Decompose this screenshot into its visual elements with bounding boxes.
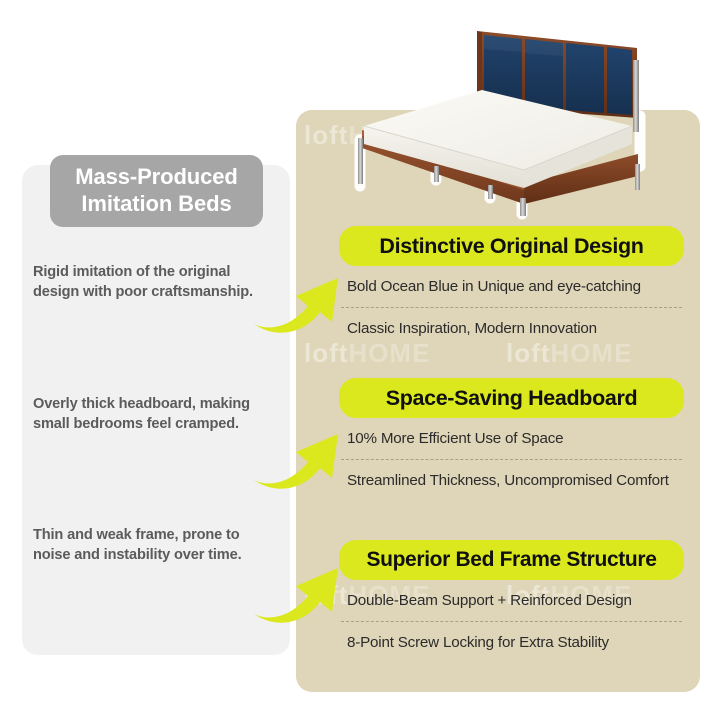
feature-block-2: Space-Saving Headboard 10% More Efficien… bbox=[339, 378, 684, 501]
feature-point: 10% More Efficient Use of Space bbox=[339, 418, 684, 459]
bed-product-image bbox=[332, 18, 714, 223]
imitation-badge-line1: Mass-Produced bbox=[75, 164, 238, 191]
feature-point: Bold Ocean Blue in Unique and eye-catchi… bbox=[339, 266, 684, 307]
caption-line: noise and instability over time. bbox=[33, 547, 241, 563]
feature-point: Classic Inspiration, Modern Innovation bbox=[339, 308, 684, 349]
feature-block-1: Distinctive Original Design Bold Ocean B… bbox=[339, 226, 684, 349]
headboard-panel bbox=[607, 47, 632, 115]
feature-point: Double-Beam Support + Reinforced Design bbox=[339, 580, 684, 621]
bed-leg bbox=[520, 198, 526, 216]
bed-leg bbox=[434, 166, 439, 182]
bed-leg bbox=[488, 185, 493, 199]
imitation-caption-1: Rigid imitation of the original design w… bbox=[33, 262, 278, 302]
caption-line: Rigid imitation of the original bbox=[33, 264, 230, 280]
imitation-badge: Mass-Produced Imitation Beds bbox=[50, 155, 263, 227]
feature-title-badge: Distinctive Original Design bbox=[339, 226, 684, 266]
headboard-panel bbox=[566, 43, 604, 113]
imitation-caption-3: Thin and weak frame, prone to noise and … bbox=[33, 525, 278, 565]
feature-title-badge: Superior Bed Frame Structure bbox=[339, 540, 684, 580]
feature-point: 8-Point Screw Locking for Extra Stabilit… bbox=[339, 622, 684, 663]
caption-line: small bedrooms feel cramped. bbox=[33, 416, 239, 432]
bed-leg bbox=[358, 138, 363, 184]
feature-point: Streamlined Thickness, Uncompromised Com… bbox=[339, 460, 684, 501]
bed-leg bbox=[635, 164, 640, 190]
caption-line: Overly thick headboard, making bbox=[33, 396, 250, 412]
headboard-post bbox=[633, 60, 639, 132]
feature-title-badge: Space-Saving Headboard bbox=[339, 378, 684, 418]
caption-line: design with poor craftsmanship. bbox=[33, 284, 253, 300]
infographic-canvas: loftHOME loftHOME loftHOME loftHOME loft… bbox=[0, 0, 720, 720]
caption-line: Thin and weak frame, prone to bbox=[33, 527, 239, 543]
imitation-caption-2: Overly thick headboard, making small bed… bbox=[33, 394, 278, 434]
imitation-badge-line2: Imitation Beds bbox=[81, 191, 231, 218]
feature-block-3: Superior Bed Frame Structure Double-Beam… bbox=[339, 540, 684, 663]
